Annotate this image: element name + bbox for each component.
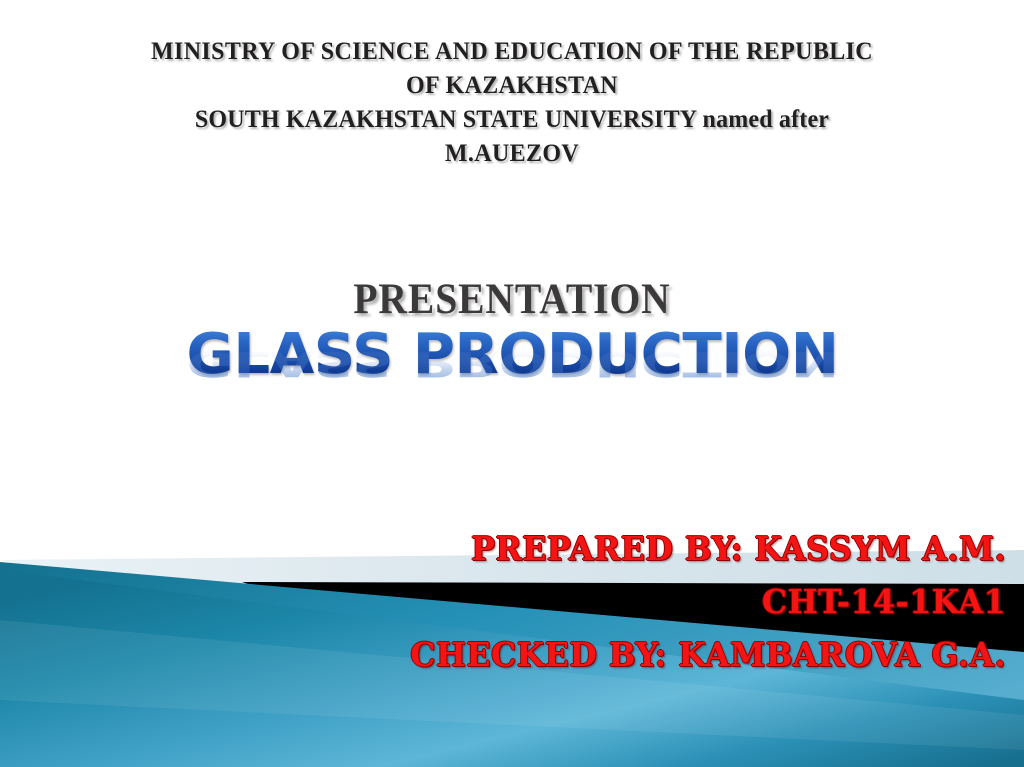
institution-header: MINISTRY OF SCIENCE AND EDUCATION OF THE… (0, 34, 1024, 170)
header-line-3: SOUTH KAZAKHSTAN STATE UNIVERSITY named … (31, 102, 994, 136)
header-line-2: OF KAZAKHSTAN (31, 68, 994, 102)
header-line-4: M.AUEZOV (31, 136, 994, 170)
credits-block: PREPARED BY: KASSYM A.M. CHT-14-1KA1 CHE… (0, 522, 1024, 681)
page-title: GLASS PRODUCTION (186, 325, 838, 385)
credit-checked-by: CHECKED BY: KAMBAROVA G.A. (40, 628, 1006, 681)
header-line-1: MINISTRY OF SCIENCE AND EDUCATION OF THE… (31, 34, 994, 68)
title-reflection: GLASS PRODUCTION (0, 382, 1024, 442)
title-block: GLASS PRODUCTION (0, 325, 1024, 385)
credit-prepared-by: PREPARED BY: KASSYM A.M. (40, 522, 1006, 575)
credit-group-code: CHT-14-1KA1 (40, 575, 1006, 628)
subtitle-presentation: PRESENTATION (41, 277, 983, 323)
presentation-slide: MINISTRY OF SCIENCE AND EDUCATION OF THE… (0, 0, 1024, 767)
